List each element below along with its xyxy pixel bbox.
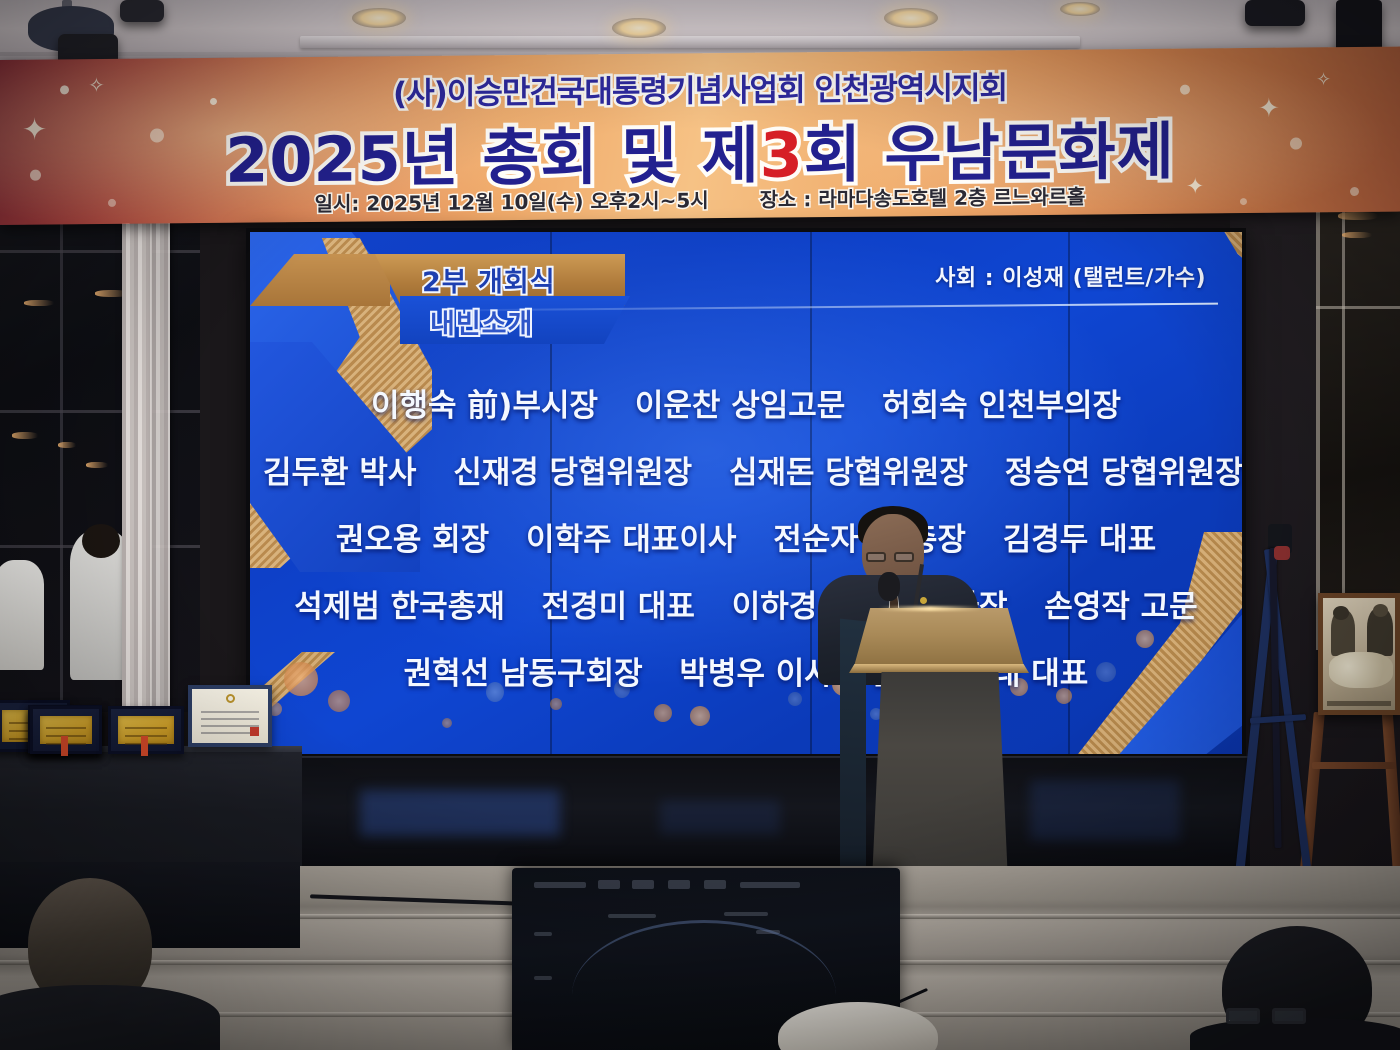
monitor-vent bbox=[632, 880, 654, 889]
ceiling-rail bbox=[300, 36, 1080, 48]
monitor-vent bbox=[534, 882, 586, 888]
guest-name: 이운찬 상임고문 bbox=[635, 388, 845, 424]
guest-row: 권혁선 남동구회장 박병우 이사 김낙병 래 대표 bbox=[250, 648, 1242, 715]
plaque-ribbon bbox=[141, 736, 148, 756]
section-part-label: 2부 개회식 bbox=[422, 260, 556, 299]
camera-mount bbox=[1274, 546, 1290, 560]
door-frame-bar bbox=[1316, 210, 1320, 650]
plaque-text-line bbox=[46, 727, 86, 729]
downlight-icon bbox=[612, 18, 666, 38]
monitor-vent bbox=[740, 882, 800, 888]
stage-light-icon bbox=[1245, 0, 1305, 26]
guest-name: 석제범 한국총재 bbox=[294, 589, 504, 625]
window-mullion bbox=[0, 250, 200, 253]
door-frame-bar bbox=[1342, 210, 1345, 650]
award-plaque bbox=[30, 706, 102, 754]
microphone-icon bbox=[878, 572, 900, 601]
certificate-stamp-icon bbox=[250, 727, 259, 736]
window-glint bbox=[12, 432, 38, 439]
banner-datetime: 일시: 2025년 12월 10일(수) 오후2시~5시 bbox=[315, 188, 709, 216]
guest-name: 심재돈 당협위원장 bbox=[729, 455, 968, 491]
stage-reflection bbox=[360, 790, 560, 836]
monitor-vent bbox=[534, 932, 552, 936]
background-person-head bbox=[82, 524, 120, 558]
guest-row: 권오용 회장 이학주 대표이사 전순자 시 총장 김경두 대표 bbox=[250, 514, 1242, 581]
eyeglasses-icon bbox=[1226, 1008, 1260, 1024]
certificate-line bbox=[201, 711, 259, 713]
guest-name: 이학주 대표이사 bbox=[526, 522, 736, 558]
plaque-ribbon bbox=[61, 736, 68, 756]
right-glass-door bbox=[1316, 210, 1400, 650]
guest-name: 정승연 당협위원장 bbox=[1005, 455, 1242, 491]
monitor-vent bbox=[724, 912, 768, 916]
guest-name: 권혁선 남동구회장 bbox=[404, 656, 643, 692]
eyeglasses-icon bbox=[894, 552, 914, 562]
background-person bbox=[0, 560, 44, 670]
photo-figure bbox=[1333, 606, 1349, 620]
podium-top-edge bbox=[849, 664, 1029, 673]
guest-name: 허회숙 인천부의장 bbox=[882, 388, 1121, 424]
award-plaque bbox=[108, 706, 184, 754]
guest-row: 석제범 한국총재 전경미 대표 이하경 대표 지사장 손영작 고문 bbox=[250, 581, 1242, 648]
window-glint bbox=[86, 462, 108, 468]
guest-list: 이행숙 前)부시장 이운찬 상임고문 허회숙 인천부의장 김두환 박사 신재경 … bbox=[250, 380, 1242, 715]
podium-highlight bbox=[878, 606, 982, 611]
guest-row: 이행숙 前)부시장 이운찬 상임고문 허회숙 인천부의장 bbox=[250, 380, 1242, 447]
easel-leg bbox=[1312, 762, 1396, 769]
stage-reflection bbox=[1030, 780, 1180, 840]
guest-name: 전경미 대표 bbox=[542, 589, 695, 625]
photo-caption bbox=[1327, 701, 1391, 706]
downlight-icon bbox=[884, 8, 938, 28]
stage-reflection bbox=[660, 800, 780, 834]
guest-name: 김두환 박사 bbox=[263, 455, 416, 491]
downlight-icon bbox=[352, 8, 406, 28]
plaque-text-line bbox=[125, 727, 168, 729]
certificate bbox=[188, 685, 272, 747]
window-glint bbox=[58, 442, 76, 448]
led-screen-bezel: 2부 개회식 내빈소개 사회 : 이성재 (탤런트/가수) 이행숙 前)부시장 … bbox=[246, 228, 1246, 758]
monitor-vent bbox=[534, 976, 552, 980]
window-glint bbox=[1338, 212, 1378, 220]
certificate-seal-icon bbox=[226, 694, 235, 703]
door-frame-bar bbox=[1316, 306, 1400, 309]
photo-flowers bbox=[1329, 652, 1393, 688]
lapel-pin-icon bbox=[920, 597, 927, 604]
podium-top bbox=[853, 608, 1025, 670]
eyeglasses-icon bbox=[866, 552, 886, 562]
podium-body bbox=[872, 672, 1008, 882]
banner-venue: 장소 : 라마다송도호텔 2층 르느와르홀 bbox=[760, 185, 1086, 212]
window-mullion bbox=[0, 410, 200, 413]
led-screen: 2부 개회식 내빈소개 사회 : 이성재 (탤런트/가수) 이행숙 前)부시장 … bbox=[250, 232, 1242, 754]
guest-name: 이행숙 前)부시장 bbox=[371, 388, 598, 424]
guest-name: 권오용 회장 bbox=[336, 522, 489, 558]
historic-photo-frame bbox=[1318, 593, 1400, 715]
audience-shoulder bbox=[0, 985, 220, 1050]
banner-title-number: 3 bbox=[760, 118, 804, 191]
window-glint bbox=[1342, 232, 1372, 238]
guest-name: 신재경 당협위원장 bbox=[453, 455, 692, 491]
historic-photo bbox=[1323, 598, 1395, 710]
stage-light-icon bbox=[120, 0, 164, 22]
window-glint bbox=[24, 300, 54, 306]
certificate-line bbox=[201, 718, 259, 720]
guest-name: 손영작 고문 bbox=[1044, 589, 1197, 625]
monitor-vent bbox=[598, 880, 620, 889]
photo-figure bbox=[1373, 604, 1388, 617]
downlight-icon bbox=[1060, 2, 1100, 16]
bokeh-particle bbox=[442, 718, 452, 728]
monitor-vent bbox=[668, 880, 690, 889]
monitor-vent bbox=[704, 880, 726, 889]
guest-name: 박병우 이사 bbox=[679, 656, 832, 692]
event-hall-photo: ✦ ✧ ✦ ✦ ✧ (사)이승만건국대통령기념사업회 인천광역시지회 2025년… bbox=[0, 0, 1400, 1050]
event-banner: ✦ ✧ ✦ ✦ ✧ (사)이승만건국대통령기념사업회 인천광역시지회 2025년… bbox=[0, 47, 1400, 225]
host-label: 사회 : 이성재 (탤런트/가수) bbox=[935, 260, 1206, 292]
guest-row: 김두환 박사 신재경 당협위원장 심재돈 당협위원장 정승연 당협위원장 bbox=[250, 447, 1242, 514]
monitor-vent bbox=[608, 914, 656, 918]
eyeglasses-icon bbox=[1272, 1008, 1306, 1024]
guest-name: 김경두 대표 bbox=[1003, 522, 1156, 558]
